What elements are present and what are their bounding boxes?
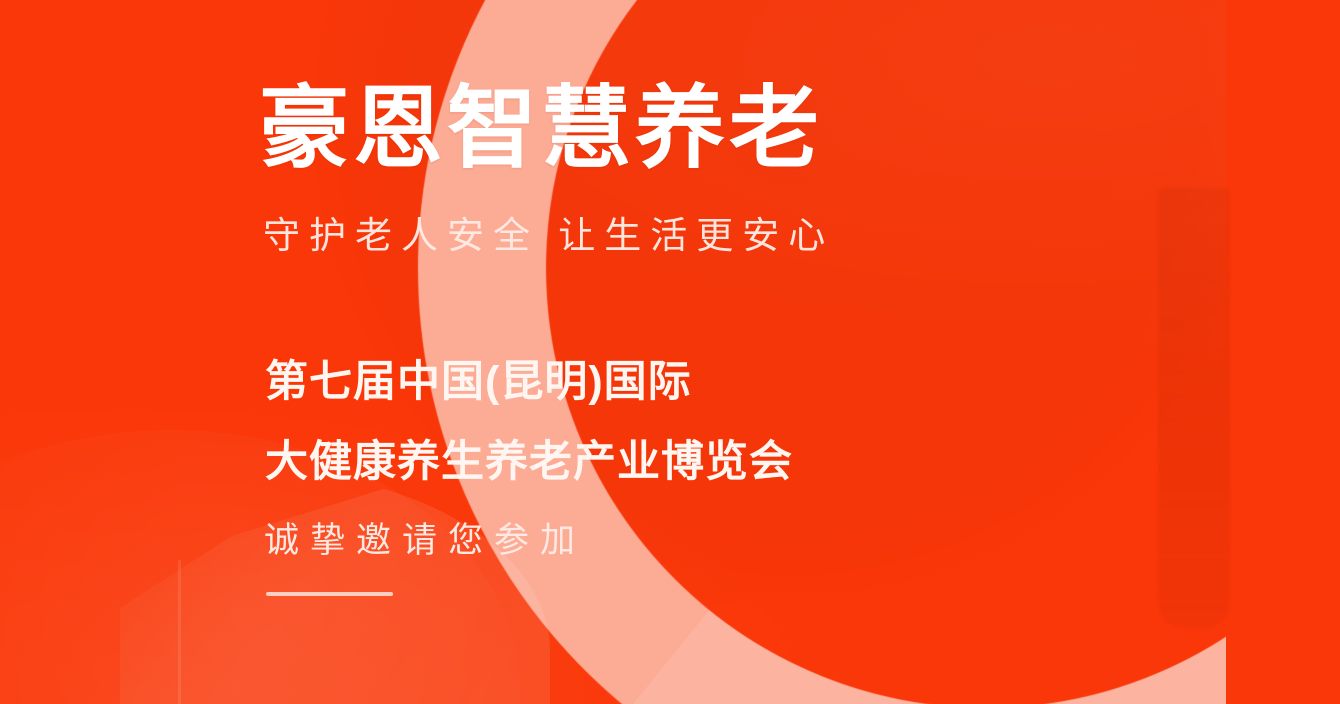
invitation-underline-rule (266, 592, 393, 596)
banner-content: 豪恩智慧养老 守护老人安全 让生活更安心 第七届中国(昆明)国际 大健康养生养老… (0, 0, 1340, 704)
brand-title: 豪恩智慧养老 (259, 84, 823, 176)
promo-banner: 豪恩智慧养老 守护老人安全 让生活更安心 第七届中国(昆明)国际 大健康养生养老… (0, 0, 1340, 704)
event-title-line-2: 大健康养生养老产业博览会 (265, 422, 793, 502)
brand-tagline: 守护老人安全 让生活更安心 (263, 216, 834, 257)
event-title: 第七届中国(昆明)国际 大健康养生养老产业博览会 (265, 342, 793, 502)
invitation-text: 诚挚邀请您参加 (264, 522, 586, 561)
event-title-line-1: 第七届中国(昆明)国际 (265, 358, 692, 406)
